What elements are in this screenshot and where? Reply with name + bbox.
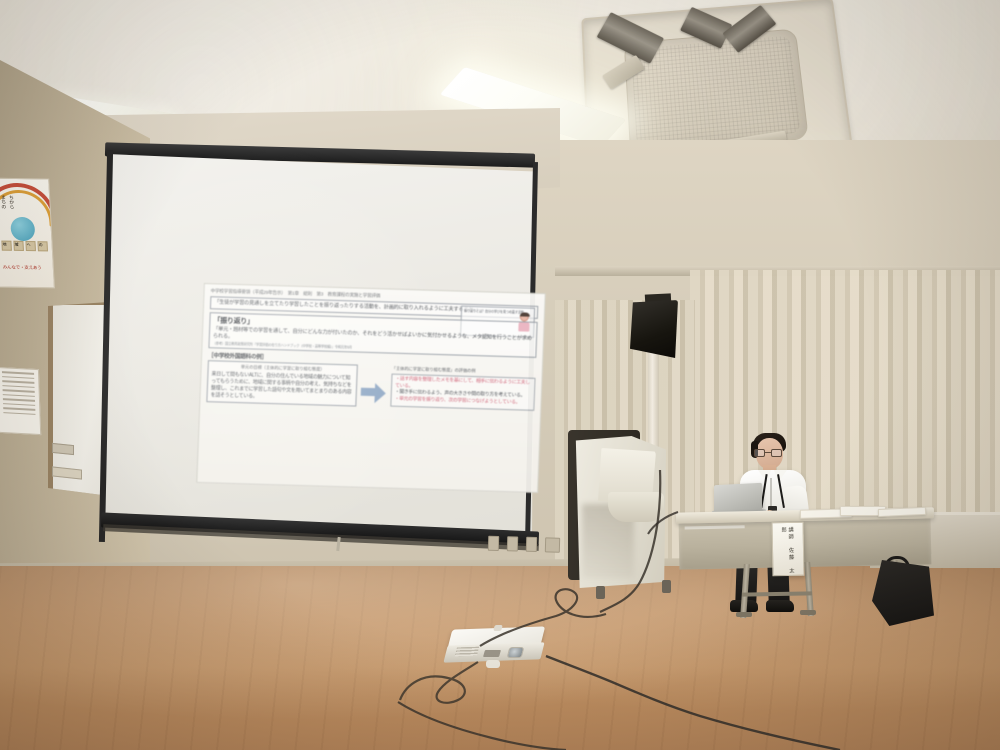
- wall-poster: まちの ちから 地 域 へ の みんなで・支えあう: [0, 178, 55, 289]
- wall-outlet: [545, 537, 560, 552]
- floor-projector[interactable]: [446, 628, 548, 674]
- projection-screen: 中学校学習指導要領（平成29年告示） 第1章 総則 第3 教育課程の実施と学習評…: [95, 148, 540, 558]
- wall-outlet: [488, 536, 499, 551]
- wall-outlet: [526, 537, 537, 552]
- poster-line-2: ちから: [7, 195, 14, 225]
- wall-outlet-group: [488, 536, 580, 555]
- slide-left-body: 来日して間もないALTに、自分の住んでいる地域の魅力について知ってもらうために、…: [210, 371, 353, 403]
- name-placard: 講師 佐藤 太郎: [772, 522, 805, 577]
- poster-footer: みんなで・支えあう: [3, 265, 42, 272]
- notice-sheet: [0, 367, 41, 435]
- poster-chip: 地: [1, 241, 12, 251]
- glasses-icon: [754, 449, 783, 457]
- screen-pull-knob[interactable]: [336, 537, 340, 551]
- poster-line-1: まちの: [0, 195, 7, 229]
- caster-wheel: [662, 580, 671, 593]
- table-foot: [736, 612, 752, 617]
- slide-two-column: 単元の目標（主体的に学習に取り組む態度） 来日して間もないALTに、自分の住んで…: [206, 360, 535, 411]
- poster-chip: へ: [25, 241, 36, 251]
- placard-text: 講師 佐藤 太郎: [781, 527, 796, 575]
- table-foot: [800, 610, 816, 615]
- poster-chip: の: [37, 241, 48, 251]
- slide-right-column: 「主体的に学習に取り組む態度」の評価の例 ・話す内容を整理したメモを基にして、相…: [390, 366, 535, 411]
- seminar-room-scene: まちの ちから 地 域 へ の みんなで・支えあう 中学校学習指導要領（平成29…: [0, 0, 1000, 750]
- poster-chip-row: 地 域 へ の: [1, 241, 48, 252]
- wall-outlet: [507, 536, 518, 551]
- wall-speaker-right-icon: [630, 300, 678, 358]
- projector-lens-icon: [507, 647, 525, 658]
- slide-left-column: 単元の目標（主体的に学習に取り組む態度） 来日して間もないALTに、自分の住んで…: [206, 360, 358, 406]
- projector-vent-icon: [455, 647, 479, 657]
- arrow-right-icon: [360, 381, 387, 404]
- shoe-right: [766, 600, 794, 612]
- projected-slide: 中学校学習指導要領（平成29年告示） 第1章 総則 第3 教育課程の実施と学習評…: [196, 283, 546, 493]
- cloth-covered-chair: [568, 430, 674, 590]
- poster-chip: 域: [13, 241, 24, 251]
- projector-ports: [483, 650, 501, 657]
- slide-right-box: ・話す内容を整理したメモを基にして、相手に伝わるように工夫している。 ・聞き手に…: [390, 373, 535, 410]
- caster-wheel: [596, 586, 605, 599]
- projector-foot: [486, 660, 500, 668]
